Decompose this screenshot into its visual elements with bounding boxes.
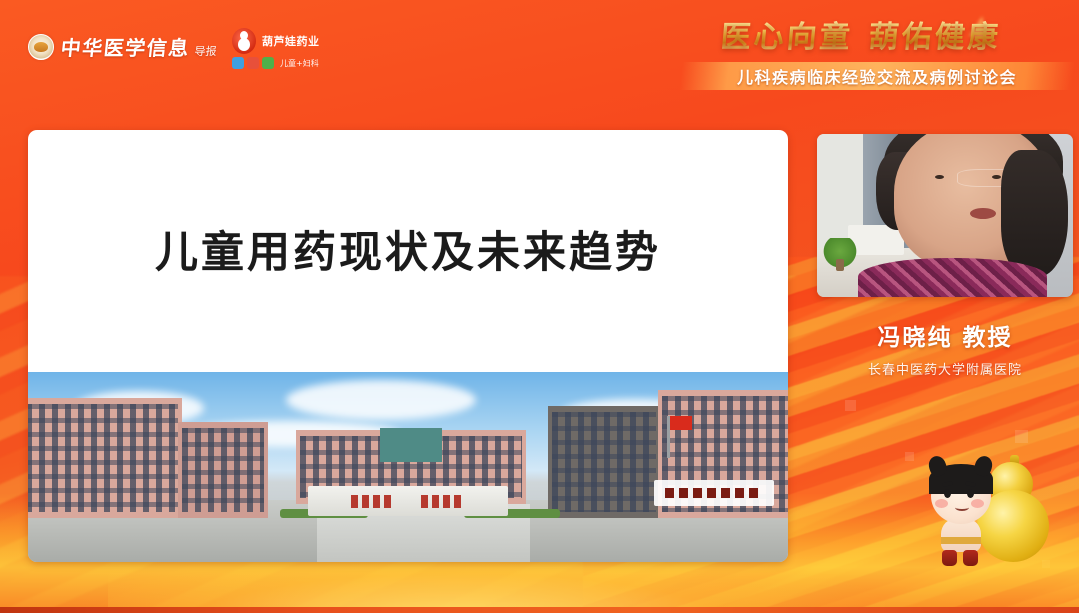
speaker-info-block: 冯晓纯 教授 长春中医药大学附属医院 [817, 318, 1073, 378]
flag-icon [667, 416, 670, 458]
slide-upper-area: 儿童用药现状及未来趋势 [28, 130, 788, 372]
event-subtitle-bar: 儿科疾病临床经验交流及病例讨论会 [679, 62, 1075, 90]
sponsor-brand-label: 葫芦娃药业 [262, 33, 320, 49]
logo-sponsor-huluwa: 葫芦娃药业 儿童+妇科 [232, 28, 328, 69]
presentation-slide[interactable]: 儿童用药现状及未来趋势 长春中医药大学附属医院 儿 [28, 130, 788, 562]
event-title-block: 医心向童葫佑健康 儿科疾病临床经验交流及病例讨论会 [661, 12, 1061, 90]
logo-primary-text: 中华医学信息导报 [59, 32, 218, 61]
mascot-boot-left [942, 550, 957, 566]
cloud-decoration [286, 380, 476, 420]
header-logo-bar: 中华医学信息导报 葫芦娃药业 儿童+妇科 [0, 0, 660, 110]
mascot-eye-right [967, 489, 974, 498]
square-decoration [845, 400, 856, 411]
slide-title: 儿童用药现状及未来趋势 [28, 218, 788, 280]
monument-text-left [351, 495, 395, 508]
chip-red-icon [247, 57, 259, 69]
bottom-edge-bar [0, 607, 1079, 613]
event-title-part2: 葫佑健康 [867, 12, 1003, 56]
calabash-boy-mascot [915, 438, 1055, 568]
mascot-cheek-left [935, 499, 948, 508]
sponsor-tagline-label: 儿童+妇科 [280, 58, 319, 69]
window-grid [28, 404, 178, 512]
speaker-organization: 长春中医药大学附属医院 [817, 359, 1073, 378]
campus-photo: 长春中医药大学附属医院 儿童诊疗中心 长春中医药大学附属第三临床医院儿童诊疗中心… [28, 372, 788, 562]
speaker-mouth [970, 208, 996, 219]
window-grid [552, 412, 656, 512]
building-left-2 [178, 422, 268, 518]
speaker-clothing [858, 258, 1047, 297]
logo-primary-suffix: 导报 [194, 45, 217, 58]
speaker-name: 冯晓纯 教授 [817, 318, 1073, 352]
mascot-boot-right [963, 550, 978, 566]
building-right-dark [548, 406, 660, 518]
speaker-eye-left [935, 175, 944, 179]
chip-blue-icon [232, 57, 244, 69]
sponsor-brand-row: 葫芦娃药业 [232, 28, 328, 54]
video-plant [822, 238, 858, 271]
building-left [28, 398, 182, 518]
campus-gate-sign [654, 480, 774, 506]
event-title: 医心向童葫佑健康 [659, 12, 1063, 56]
monument-text-right [421, 495, 465, 508]
chip-green-icon [262, 57, 274, 69]
event-subtitle: 儿科疾病临床经验交流及病例讨论会 [737, 64, 1017, 88]
logo-china-medical-tribune: 中华医学信息导报 [28, 32, 217, 61]
campus-monument [308, 486, 508, 516]
mascot-cheek-right [971, 499, 984, 508]
mascot-eye-left [944, 489, 951, 498]
building-center-roof [380, 428, 442, 462]
event-title-part1: 医心向童 [719, 12, 855, 56]
gourd-icon [232, 28, 256, 54]
mascot-belt [941, 537, 981, 544]
medical-seal-icon [28, 34, 54, 60]
square-decoration [905, 452, 914, 461]
broadcast-stage: 中华医学信息导报 葫芦娃药业 儿童+妇科 医心向童葫佑健康 儿科疾病临床经验交流… [0, 0, 1079, 613]
mascot-mouth [955, 504, 969, 511]
gate-sign-text [665, 488, 763, 498]
speaker-hair-side [1001, 150, 1068, 277]
speaker-video-feed[interactable] [817, 134, 1073, 297]
window-grid [182, 428, 264, 512]
sponsor-tagline-row: 儿童+妇科 [232, 57, 328, 69]
